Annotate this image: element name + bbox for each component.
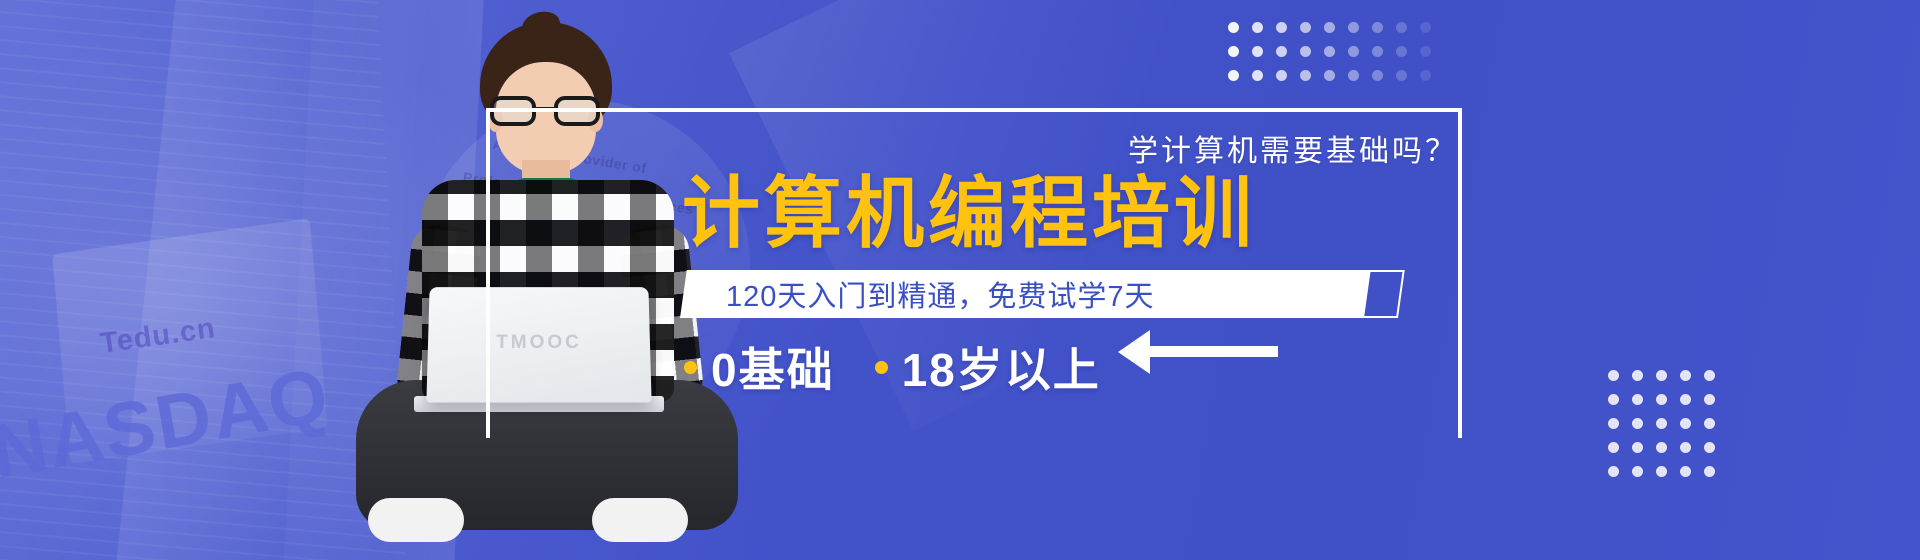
- decorative-dot: [1252, 70, 1263, 81]
- decorative-dot: [1608, 370, 1619, 381]
- right-shoe: [592, 498, 688, 542]
- decorative-dot: [1228, 46, 1239, 57]
- decorative-dot: [1252, 46, 1263, 57]
- decorative-dot: [1656, 466, 1667, 477]
- decorative-dot: [1704, 466, 1715, 477]
- decorative-dot: [1348, 70, 1359, 81]
- decorative-dot: [1680, 418, 1691, 429]
- decorative-dot: [1276, 22, 1287, 33]
- decorative-dot: [1276, 46, 1287, 57]
- decorative-dot: [1632, 370, 1643, 381]
- decorative-dot: [1680, 466, 1691, 477]
- highlight-band-tail: [1356, 270, 1405, 318]
- highlight-band: 120天入门到精通，免费试学7天: [680, 270, 1400, 318]
- feature-bullets: 0基础 18岁以上: [684, 334, 1101, 400]
- decorative-dot: [1656, 394, 1667, 405]
- decorative-dot: [1632, 418, 1643, 429]
- decorative-dot: [1348, 46, 1359, 57]
- decorative-dot: [1420, 22, 1431, 33]
- decorative-dot: [1632, 394, 1643, 405]
- decorative-dot: [1608, 466, 1619, 477]
- highlight-band-text: 120天入门到精通，免费试学7天: [726, 270, 1155, 318]
- feature-bullet-0: 0基础: [684, 334, 835, 400]
- decorative-dot: [1276, 70, 1287, 81]
- arrow-shaft: [1148, 346, 1278, 357]
- decorative-dot: [1704, 370, 1715, 381]
- decorative-dot: [1704, 394, 1715, 405]
- decorative-dot: [1608, 394, 1619, 405]
- dot-grid-top-right: [1228, 22, 1444, 94]
- decorative-dot: [1420, 46, 1431, 57]
- decorative-dot: [1632, 466, 1643, 477]
- feature-bullet-label: 0基础: [711, 334, 835, 400]
- decorative-dot: [1228, 22, 1239, 33]
- decorative-dot: [1300, 22, 1311, 33]
- banner-content: 学计算机需要基础吗？ 计算机编程培训 120天入门到精通，免费试学7天 0基础 …: [660, 112, 1480, 452]
- dot-grid-bottom-right: [1608, 370, 1728, 490]
- banner-headline: 计算机编程培训: [682, 174, 1256, 252]
- decorative-dot: [1420, 70, 1431, 81]
- decorative-dot: [1656, 442, 1667, 453]
- decorative-dot: [1608, 418, 1619, 429]
- decorative-dot: [1372, 46, 1383, 57]
- decorative-dot: [1608, 442, 1619, 453]
- decorative-dot: [1300, 46, 1311, 57]
- decorative-dot: [1396, 46, 1407, 57]
- decorative-dot: [1348, 22, 1359, 33]
- decorative-dot: [1632, 442, 1643, 453]
- decorative-dot: [1228, 70, 1239, 81]
- decorative-dot: [1656, 418, 1667, 429]
- feature-bullet-label: 18岁以上: [902, 334, 1101, 400]
- decorative-dot: [1680, 442, 1691, 453]
- banner-subtitle: 学计算机需要基础吗？: [1128, 126, 1458, 170]
- decorative-dot: [1680, 394, 1691, 405]
- decorative-dot: [1704, 442, 1715, 453]
- decorative-dot: [1396, 22, 1407, 33]
- decorative-dot: [1372, 70, 1383, 81]
- decorative-dot: [1372, 22, 1383, 33]
- arrow-left-icon: [1118, 330, 1150, 374]
- bullet-dot-icon: [875, 361, 888, 374]
- decorative-dot: [1324, 22, 1335, 33]
- promo-banner: A Leading Provider of Professional Educa…: [0, 0, 1920, 560]
- decorative-dot: [1252, 22, 1263, 33]
- decorative-dot: [1396, 70, 1407, 81]
- bullet-dot-icon: [684, 361, 697, 374]
- decorative-dot: [1300, 70, 1311, 81]
- decorative-dot: [1704, 418, 1715, 429]
- left-shoe: [368, 498, 464, 542]
- decorative-dot: [1324, 70, 1335, 81]
- feature-bullet-1: 18岁以上: [875, 334, 1101, 400]
- decorative-dot: [1680, 370, 1691, 381]
- decorative-dot: [1324, 46, 1335, 57]
- decorative-dot: [1656, 370, 1667, 381]
